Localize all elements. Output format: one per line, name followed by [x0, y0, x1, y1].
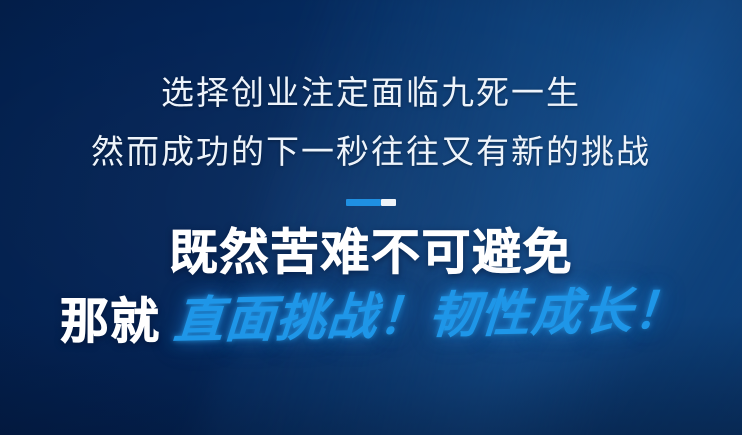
- subtitle-line-1: 选择创业注定面临九死一生: [161, 76, 581, 109]
- headline-text: 既然苦难不可避免: [169, 229, 573, 278]
- subtitle-line-2: 然而成功的下一秒往往又有新的挑战: [91, 135, 651, 168]
- divider-white-segment: [381, 199, 396, 206]
- poster-content: 选择创业注定面临九死一生 然而成功的下一秒往往又有新的挑战 既然苦难不可避免 那…: [0, 0, 742, 435]
- poster-canvas: 选择创业注定面临九死一生 然而成功的下一秒往往又有新的挑战 既然苦难不可避免 那…: [0, 0, 742, 435]
- two-tone-divider: [346, 199, 396, 206]
- final-line-script-calligraphy: 直面挑战！韧性成长！: [172, 285, 686, 346]
- final-line-prefix: 那就: [60, 298, 160, 347]
- final-line-row: 那就 直面挑战！韧性成长！: [60, 296, 682, 347]
- divider-blue-segment: [346, 199, 381, 206]
